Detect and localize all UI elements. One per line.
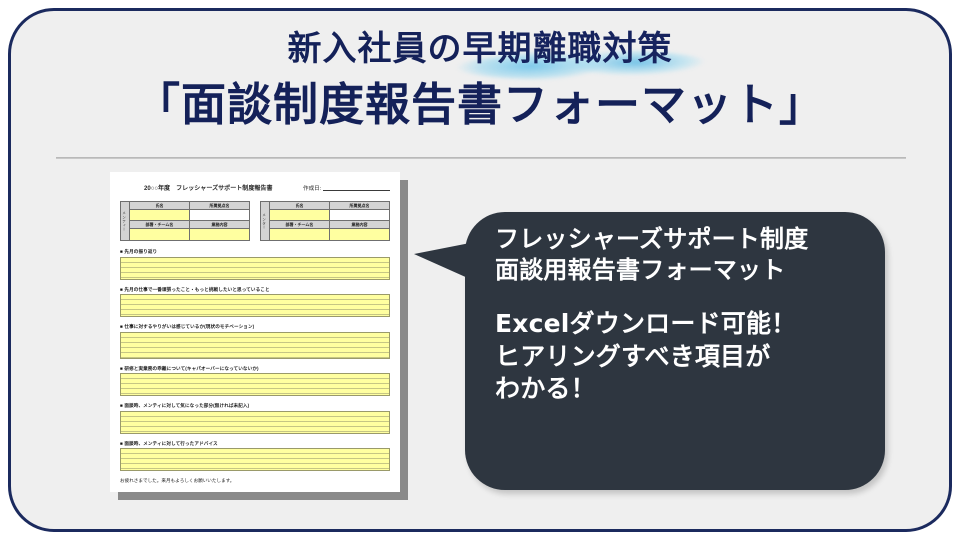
cell-team-header: 部署・チーム名 (270, 221, 330, 229)
cell-name-header: 氏名 (130, 202, 190, 210)
bullet-square-icon: ■ (120, 324, 123, 329)
document-date-label: 作成日: (303, 184, 321, 192)
bullet-square-icon: ■ (120, 249, 123, 254)
document-section: ■研修と実業務の乖離について(キャパオーバーになっていないか) (120, 366, 390, 397)
section-label: ■面談時、メンティに対して行ったアドバイス (120, 441, 390, 447)
document-header-title: 20○○年度 フレッシャーズサポート制度報告書 (144, 183, 273, 192)
section-label: ■面談時、メンティに対して気になった部分(無ければ未記入) (120, 403, 390, 409)
person-table-mentor: メンター 氏名 所属拠点名 部署・チーム名 業務内容 (260, 201, 390, 241)
cell-team-header: 部署・チーム名 (130, 221, 190, 229)
table-row (270, 210, 389, 221)
document-section: ■先月の振り返り (120, 249, 390, 280)
table-row (270, 229, 389, 240)
callout-line-1: フレッシャーズサポート制度 (495, 224, 885, 255)
person-table-side-label: メンティー (121, 202, 130, 240)
callout-line-2: 面談用報告書フォーマット (495, 255, 885, 286)
person-table-grid: 氏名 所属拠点名 部署・チーム名 業務内容 (270, 202, 389, 240)
document-header: 20○○年度 フレッシャーズサポート制度報告書 作成日: (118, 180, 392, 198)
document-section: ■面談時、メンティに対して気になった部分(無ければ未記入) (120, 403, 390, 434)
callout-line-3: Excelダウンロード可能！ (495, 308, 885, 341)
document-date-rule (323, 190, 390, 191)
callout-content: フレッシャーズサポート制度 面談用報告書フォーマット Excelダウンロード可能… (495, 224, 885, 406)
callout-line-5: わかる！ (495, 373, 885, 406)
section-label-text: 先月の振り返り (124, 249, 157, 254)
section-input-area[interactable] (120, 294, 390, 317)
document-footer: お疲れさまでした。来月もよろしくお願いいたします。 (120, 478, 390, 484)
table-row (130, 210, 249, 221)
section-label: ■先月の仕事で一番頑張ったこと・もっと挑戦したいと思っていること (120, 287, 390, 293)
section-input-area[interactable] (120, 411, 390, 434)
mentor-label: メンター (263, 213, 268, 229)
callout-line-4: ヒアリングすべき項目が (495, 341, 885, 374)
cell-name-header: 氏名 (270, 202, 330, 210)
document-section: ■仕事に対するやりがいは感じているか(現状のモチベーション) (120, 324, 390, 359)
cell-duty-value[interactable] (330, 229, 389, 240)
section-label-text: 先月の仕事で一番頑張ったこと・もっと挑戦したいと思っていること (124, 287, 269, 292)
person-table-grid: 氏名 所属拠点名 部署・チーム名 業務内容 (130, 202, 249, 240)
person-table-side-label: メンター (261, 202, 270, 240)
section-input-area[interactable] (120, 332, 390, 359)
section-label: ■仕事に対するやりがいは感じているか(現状のモチベーション) (120, 324, 390, 330)
cell-location-header: 所属拠点名 (190, 202, 249, 210)
callout-spacer (495, 286, 885, 308)
document-preview[interactable]: 20○○年度 フレッシャーズサポート制度報告書 作成日: メンティー 氏名 所属… (110, 172, 400, 492)
section-label-text: 仕事に対するやりがいは感じているか(現状のモチベーション) (124, 324, 254, 329)
cell-location-value[interactable] (330, 210, 389, 221)
section-label: ■研修と実業務の乖離について(キャパオーバーになっていないか) (120, 366, 390, 372)
table-row: 部署・チーム名 業務内容 (270, 221, 389, 229)
cell-duty-header: 業務内容 (190, 221, 249, 229)
document-section: ■先月の仕事で一番頑張ったこと・もっと挑戦したいと思っていること (120, 287, 390, 318)
section-label-text: 面談時、メンティに対して行ったアドバイス (124, 441, 217, 446)
cell-location-value[interactable] (190, 210, 249, 221)
section-input-area[interactable] (120, 257, 390, 280)
bullet-square-icon: ■ (120, 403, 123, 408)
bullet-square-icon: ■ (120, 366, 123, 371)
document-date-field: 作成日: (303, 184, 390, 192)
cell-name-value[interactable] (130, 210, 190, 221)
bullet-square-icon: ■ (120, 287, 123, 292)
section-label-text: 研修と実業務の乖離について(キャパオーバーになっていないか) (124, 366, 258, 371)
section-label: ■先月の振り返り (120, 249, 390, 255)
mentee-label: メンティー (123, 211, 128, 232)
cell-name-value[interactable] (270, 210, 330, 221)
document-section: ■面談時、メンティに対して行ったアドバイス (120, 441, 390, 472)
table-row: 氏名 所属拠点名 (270, 202, 389, 210)
section-label-text: 面談時、メンティに対して気になった部分(無ければ未記入) (124, 403, 249, 408)
cell-location-header: 所属拠点名 (330, 202, 389, 210)
table-row: 氏名 所属拠点名 (130, 202, 249, 210)
document-person-tables: メンティー 氏名 所属拠点名 部署・チーム名 業務内容 (120, 201, 390, 241)
person-table-mentee: メンティー 氏名 所属拠点名 部署・チーム名 業務内容 (120, 201, 250, 241)
table-row: 部署・チーム名 業務内容 (130, 221, 249, 229)
table-row (130, 229, 249, 240)
cell-team-value[interactable] (270, 229, 330, 240)
cell-duty-value[interactable] (190, 229, 249, 240)
section-input-area[interactable] (120, 448, 390, 471)
slide-canvas: 新入社員の早期離職対策 「面談制度報告書フォーマット」 20○○年度 フレッシャ… (0, 0, 960, 540)
section-input-area[interactable] (120, 373, 390, 396)
title-divider (56, 157, 906, 159)
bullet-square-icon: ■ (120, 441, 123, 446)
callout-tail-icon (414, 243, 470, 279)
cell-team-value[interactable] (130, 229, 190, 240)
cell-duty-header: 業務内容 (330, 221, 389, 229)
